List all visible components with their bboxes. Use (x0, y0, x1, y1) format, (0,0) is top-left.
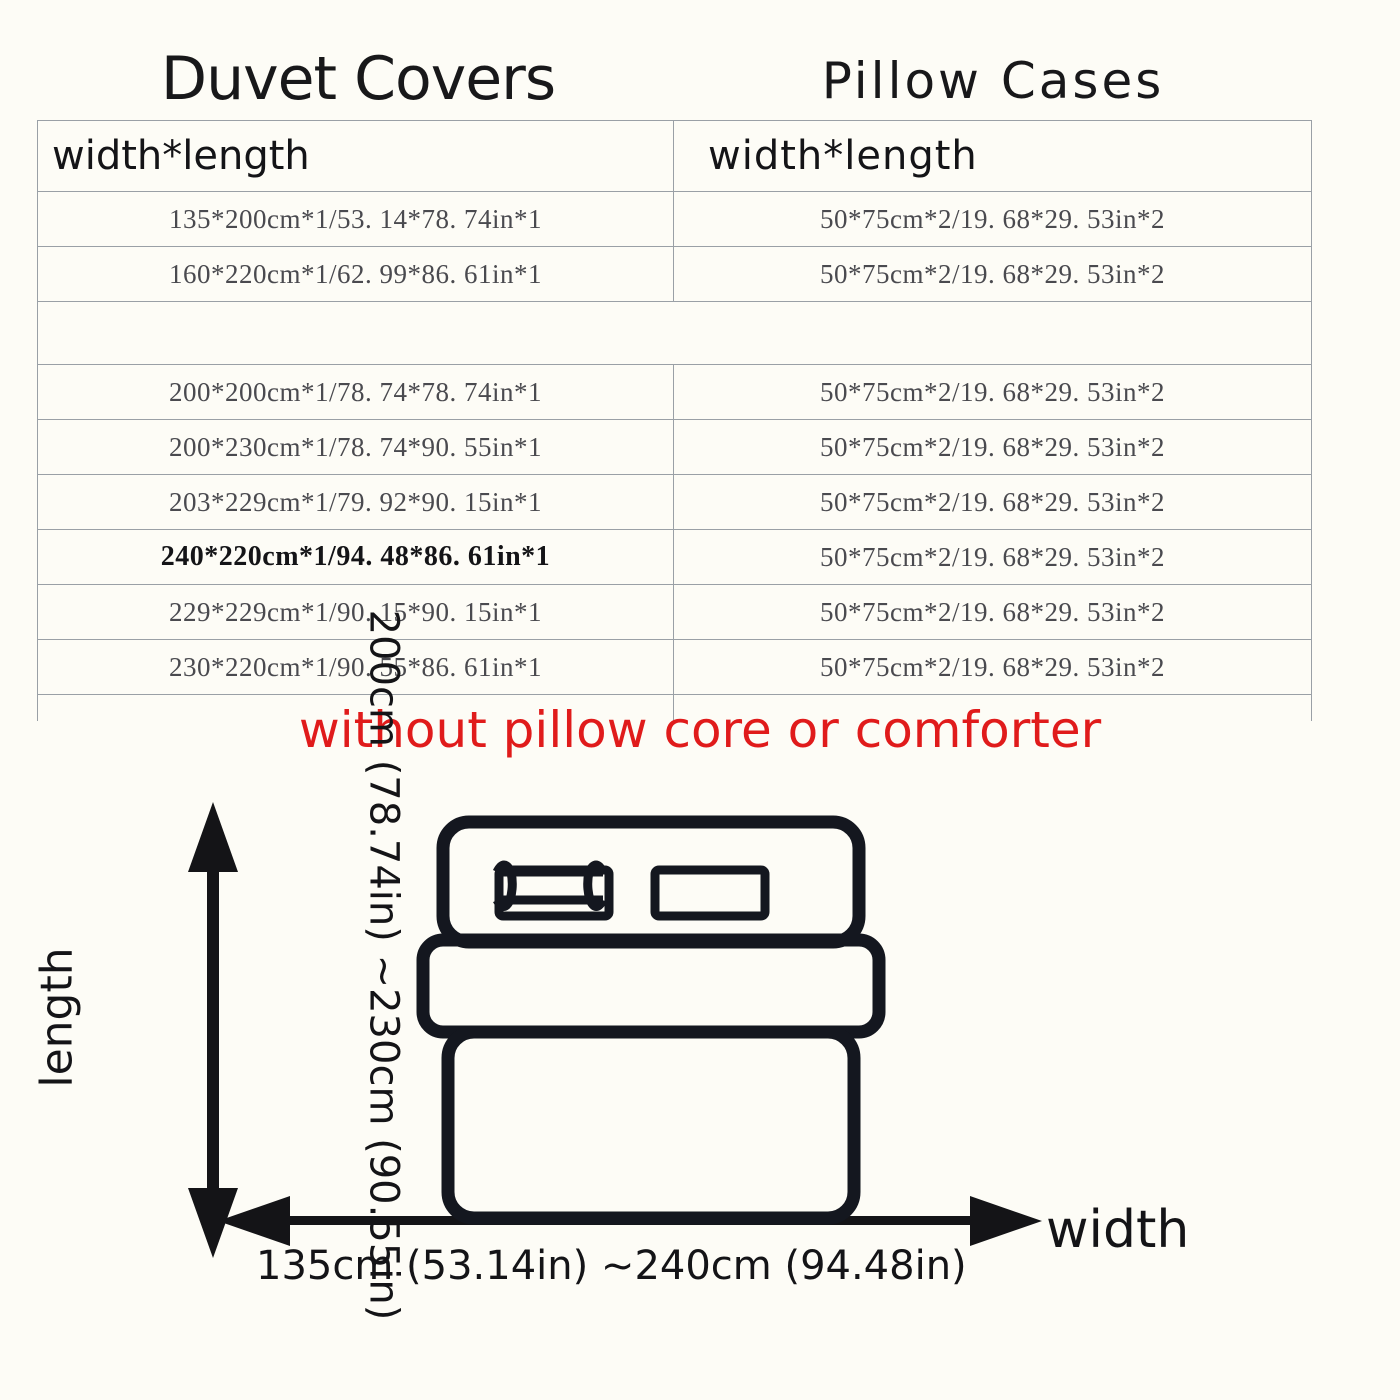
duvet-size-cell: 230*220cm*1/90. 55*86. 61in*1 (38, 640, 674, 695)
header-pillow-width-length: width*length (674, 121, 1312, 192)
table-row: 203*229cm*1/79. 92*90. 15in*1 50*75cm*2/… (38, 475, 1312, 530)
size-chart-table: width*length width*length 135*200cm*1/53… (37, 120, 1312, 721)
duvet-covers-title: Duvet Covers (40, 46, 676, 112)
pillow-size-cell: 50*75cm*2/19. 68*29. 53in*2 (674, 365, 1312, 420)
duvet-size-cell: 160*220cm*1/62. 99*86. 61in*1 (38, 247, 674, 302)
pillow-cases-title: Pillow Cases (676, 50, 1310, 112)
table-row: 200*230cm*1/78. 74*90. 55in*1 50*75cm*2/… (38, 420, 1312, 475)
pillow-size-cell: 50*75cm*2/19. 68*29. 53in*2 (674, 420, 1312, 475)
pillow-size-cell: 50*75cm*2/19. 68*29. 53in*2 (674, 247, 1312, 302)
table-row-highlighted: 240*220cm*1/94. 48*86. 61in*1 50*75cm*2/… (38, 530, 1312, 585)
without-pillow-core-note: without pillow core or comforter (0, 700, 1400, 760)
chart-titles: Duvet Covers Pillow Cases (0, 46, 1400, 116)
width-axis-label: width (1046, 1200, 1189, 1260)
duvet-size-cell: 200*200cm*1/78. 74*78. 74in*1 (38, 365, 674, 420)
table-spacer-row (38, 302, 1312, 365)
header-duvet-width-length: width*length (38, 121, 674, 192)
spacer-cell-left (38, 302, 674, 365)
length-axis-label: length (32, 947, 83, 1087)
length-arrow-icon (188, 802, 238, 1258)
bed-icon (423, 822, 879, 1218)
duvet-size-cell: 135*200cm*1/53. 14*78. 74in*1 (38, 192, 674, 247)
table-row: 230*220cm*1/90. 55*86. 61in*1 50*75cm*2/… (38, 640, 1312, 695)
duvet-size-cell: 200*230cm*1/78. 74*90. 55in*1 (38, 420, 674, 475)
diagram-svg (0, 760, 1400, 1320)
pillow-size-cell: 50*75cm*2/19. 68*29. 53in*2 (674, 192, 1312, 247)
bed-dimension-diagram: length 200cm (78.74in) ~230cm (90.55in) … (0, 760, 1400, 1320)
table-row: 160*220cm*1/62. 99*86. 61in*1 50*75cm*2/… (38, 247, 1312, 302)
pillow-size-cell: 50*75cm*2/19. 68*29. 53in*2 (674, 585, 1312, 640)
width-dimension-label: 135cm (53.14in) ~240cm (94.48in) (256, 1243, 967, 1289)
pillow-size-cell: 50*75cm*2/19. 68*29. 53in*2 (674, 640, 1312, 695)
table-header-row: width*length width*length (38, 121, 1312, 192)
duvet-size-cell: 240*220cm*1/94. 48*86. 61in*1 (38, 530, 674, 585)
length-dimension-label: 200cm (78.74in) ~230cm (90.55in) (360, 610, 406, 1321)
pillow-size-cell: 50*75cm*2/19. 68*29. 53in*2 (674, 530, 1312, 585)
table-row: 200*200cm*1/78. 74*78. 74in*1 50*75cm*2/… (38, 365, 1312, 420)
table-row: 135*200cm*1/53. 14*78. 74in*1 50*75cm*2/… (38, 192, 1312, 247)
duvet-size-cell: 203*229cm*1/79. 92*90. 15in*1 (38, 475, 674, 530)
spacer-cell-right (674, 302, 1312, 365)
duvet-size-cell: 229*229cm*1/90. 15*90. 15in*1 (38, 585, 674, 640)
pillow-size-cell: 50*75cm*2/19. 68*29. 53in*2 (674, 475, 1312, 530)
table-row: 229*229cm*1/90. 15*90. 15in*1 50*75cm*2/… (38, 585, 1312, 640)
